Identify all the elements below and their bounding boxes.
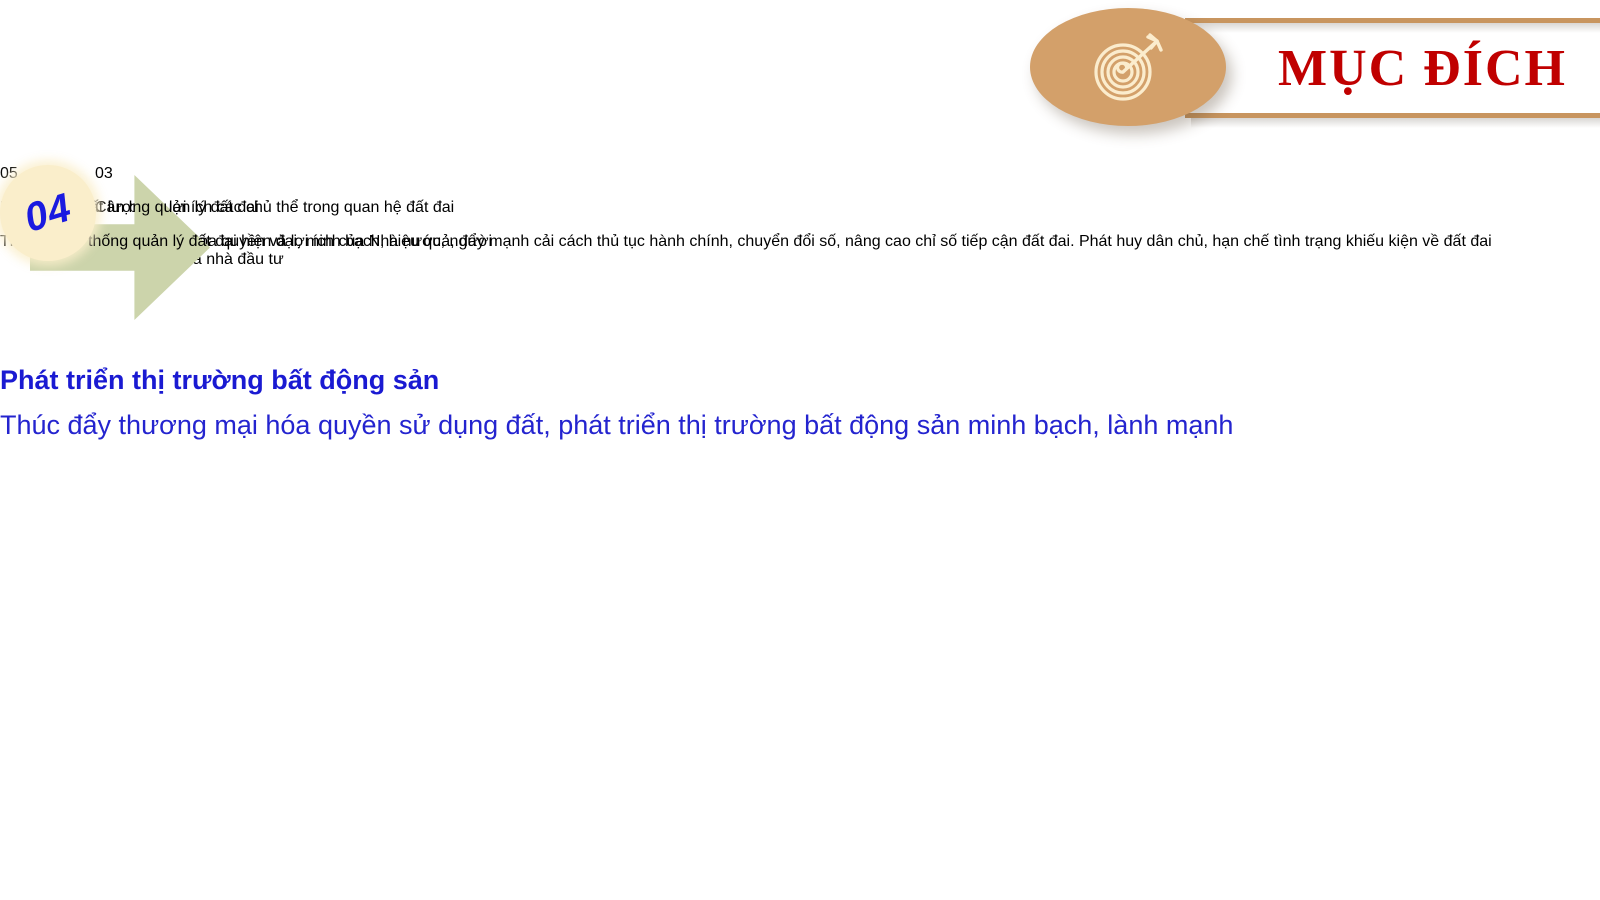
column-body: Thiết lập hệ thống quản lý đất đai hiện … [0,233,1492,251]
header-banner: MỤC ĐÍCH [1185,18,1600,118]
number-label: 04 [19,185,77,242]
number-badge: 05 [0,165,1492,183]
target-dartboard-icon [1085,30,1171,104]
arrow-group: 05 [0,165,1492,183]
target-badge [1030,8,1226,126]
column-heading: Phát triển thị trường bất động sản [0,360,1233,401]
column-body: Thúc đẩy thương mại hóa quyền sử dụng đấ… [0,403,1233,448]
objective-column-05: 05 Nâng cao chất lượng quản lý đất đai T… [0,165,1492,267]
page-title: MỤC ĐÍCH [1185,23,1600,113]
column-heading: Nâng cao chất lượng quản lý đất đai [0,199,1492,217]
banner-bottom-shadow [1191,118,1600,128]
number-badge: 04 [0,165,96,261]
